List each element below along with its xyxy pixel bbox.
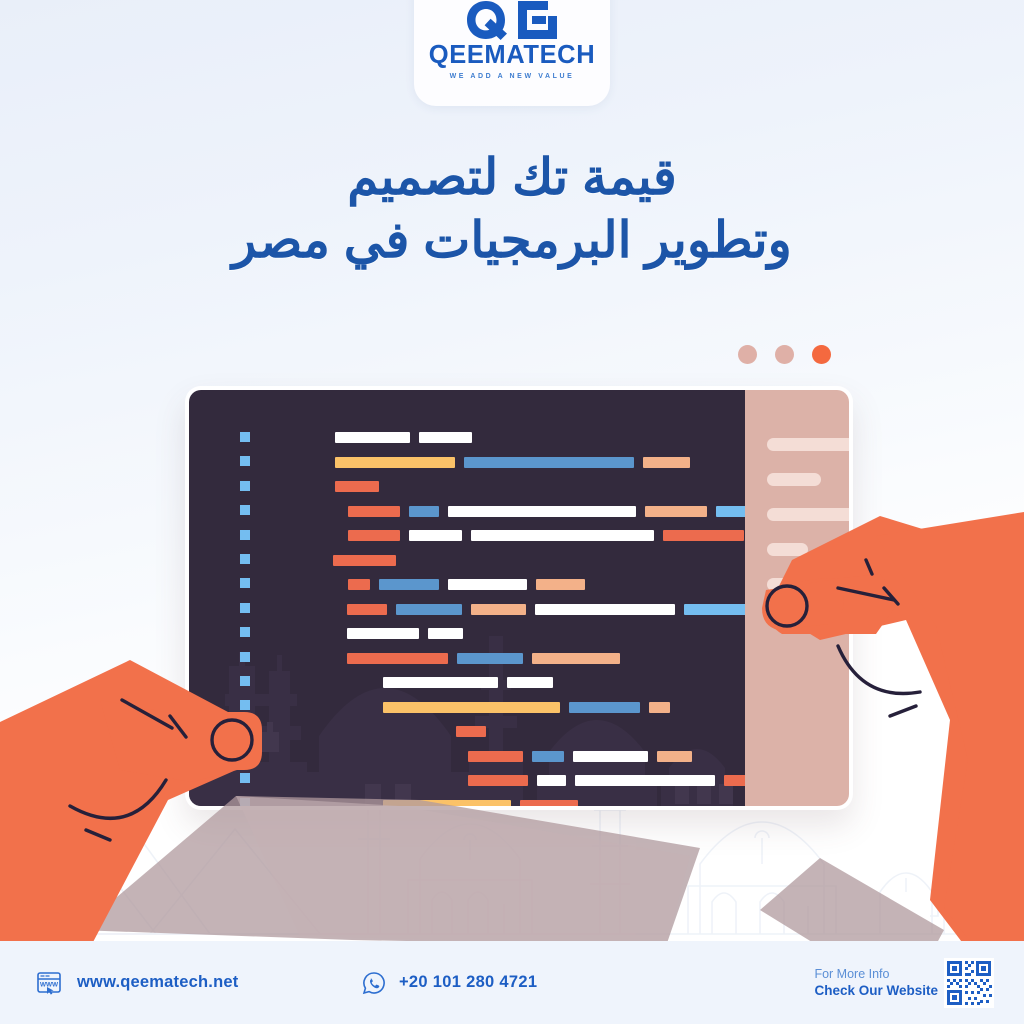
dot-close[interactable] bbox=[812, 345, 831, 364]
code-token bbox=[657, 751, 692, 762]
editor-side-panel bbox=[745, 390, 849, 806]
code-token bbox=[464, 457, 634, 468]
code-line bbox=[269, 455, 745, 470]
code-token bbox=[536, 579, 585, 590]
code-token bbox=[643, 457, 690, 468]
dot-maximize[interactable] bbox=[775, 345, 794, 364]
code-token bbox=[383, 677, 498, 688]
code-token bbox=[347, 604, 387, 615]
code-token bbox=[468, 751, 523, 762]
side-panel-bar[interactable] bbox=[767, 578, 849, 591]
code-token bbox=[379, 579, 439, 590]
code-token bbox=[471, 530, 654, 541]
code-token bbox=[520, 800, 578, 807]
code-line bbox=[269, 602, 745, 617]
code-token bbox=[532, 751, 564, 762]
side-panel-bar[interactable] bbox=[767, 438, 849, 451]
code-token bbox=[663, 530, 744, 541]
footer-website-text: www.qeematech.net bbox=[77, 973, 238, 992]
code-line bbox=[269, 749, 745, 764]
code-token bbox=[333, 555, 396, 566]
code-line bbox=[269, 651, 745, 666]
poster-canvas: QEEMATECH WE ADD A NEW VALUE قيمة تك لتص… bbox=[0, 0, 1024, 1024]
code-line bbox=[269, 773, 745, 788]
code-token bbox=[537, 775, 566, 786]
browser-www-icon: WWW bbox=[36, 970, 62, 996]
code-token bbox=[348, 530, 400, 541]
code-token bbox=[716, 506, 745, 517]
whatsapp-icon bbox=[361, 970, 387, 996]
code-token bbox=[383, 800, 511, 807]
footer-qr-block[interactable]: For More Info Check Our Website bbox=[814, 958, 994, 1008]
code-token bbox=[448, 506, 636, 517]
code-line bbox=[269, 675, 745, 690]
code-token bbox=[573, 751, 648, 762]
code-line bbox=[269, 553, 745, 568]
footer-phone[interactable]: +20 101 280 4721 bbox=[361, 970, 537, 996]
code-token bbox=[409, 530, 462, 541]
code-token bbox=[684, 604, 745, 615]
code-token bbox=[456, 726, 486, 737]
code-token bbox=[575, 775, 715, 786]
code-line bbox=[269, 577, 745, 592]
code-token bbox=[724, 775, 745, 786]
footer-website[interactable]: WWW www.qeematech.net bbox=[36, 970, 238, 996]
code-editor-screen bbox=[189, 390, 745, 806]
qr-label-line2: Check Our Website bbox=[814, 982, 938, 999]
code-lines-container bbox=[189, 430, 745, 806]
code-token bbox=[428, 628, 463, 639]
svg-text:WWW: WWW bbox=[40, 981, 59, 988]
window-control-dots bbox=[738, 345, 831, 364]
brand-logo-badge[interactable]: QEEMATECH WE ADD A NEW VALUE bbox=[414, 0, 610, 106]
side-panel-bar[interactable] bbox=[767, 543, 808, 556]
code-line bbox=[269, 528, 745, 543]
side-panel-bar[interactable] bbox=[767, 473, 821, 486]
code-line bbox=[269, 479, 745, 494]
code-token bbox=[535, 604, 675, 615]
code-token bbox=[383, 702, 560, 713]
code-line bbox=[269, 504, 745, 519]
code-token bbox=[348, 506, 400, 517]
code-token bbox=[649, 702, 670, 713]
qr-code-icon[interactable] bbox=[944, 958, 994, 1008]
code-token bbox=[532, 653, 620, 664]
headline-line-1: قيمة تك لتصميم bbox=[0, 146, 1024, 209]
dot-minimize[interactable] bbox=[738, 345, 757, 364]
code-line bbox=[269, 430, 745, 445]
tablet-device bbox=[185, 386, 853, 810]
code-token bbox=[347, 628, 419, 639]
code-token bbox=[335, 432, 410, 443]
code-token bbox=[645, 506, 707, 517]
code-token bbox=[507, 677, 553, 688]
code-token bbox=[348, 579, 370, 590]
code-line bbox=[269, 724, 745, 739]
code-line bbox=[269, 626, 745, 641]
qr-label-line1: For More Info bbox=[814, 966, 938, 982]
code-line bbox=[269, 700, 745, 715]
brand-name: QEEMATECH bbox=[429, 43, 595, 69]
code-token bbox=[471, 604, 526, 615]
brand-tagline: WE ADD A NEW VALUE bbox=[450, 73, 575, 80]
code-token bbox=[457, 653, 523, 664]
headline: قيمة تك لتصميم وتطوير البرمجيات في مصر bbox=[0, 146, 1024, 272]
code-token bbox=[409, 506, 439, 517]
code-token bbox=[448, 579, 527, 590]
headline-line-2: وتطوير البرمجيات في مصر bbox=[0, 209, 1024, 272]
code-token bbox=[468, 775, 528, 786]
code-line bbox=[269, 798, 745, 807]
code-token bbox=[569, 702, 640, 713]
code-token bbox=[419, 432, 472, 443]
code-token bbox=[347, 653, 448, 664]
code-token bbox=[335, 457, 455, 468]
footer-phone-text: +20 101 280 4721 bbox=[399, 973, 537, 992]
code-token bbox=[335, 481, 379, 492]
code-token bbox=[396, 604, 462, 615]
footer-bar: WWW www.qeematech.net +20 101 280 4721 F… bbox=[0, 941, 1024, 1024]
qg-monogram-icon bbox=[466, 0, 558, 40]
side-panel-bar[interactable] bbox=[767, 508, 849, 521]
